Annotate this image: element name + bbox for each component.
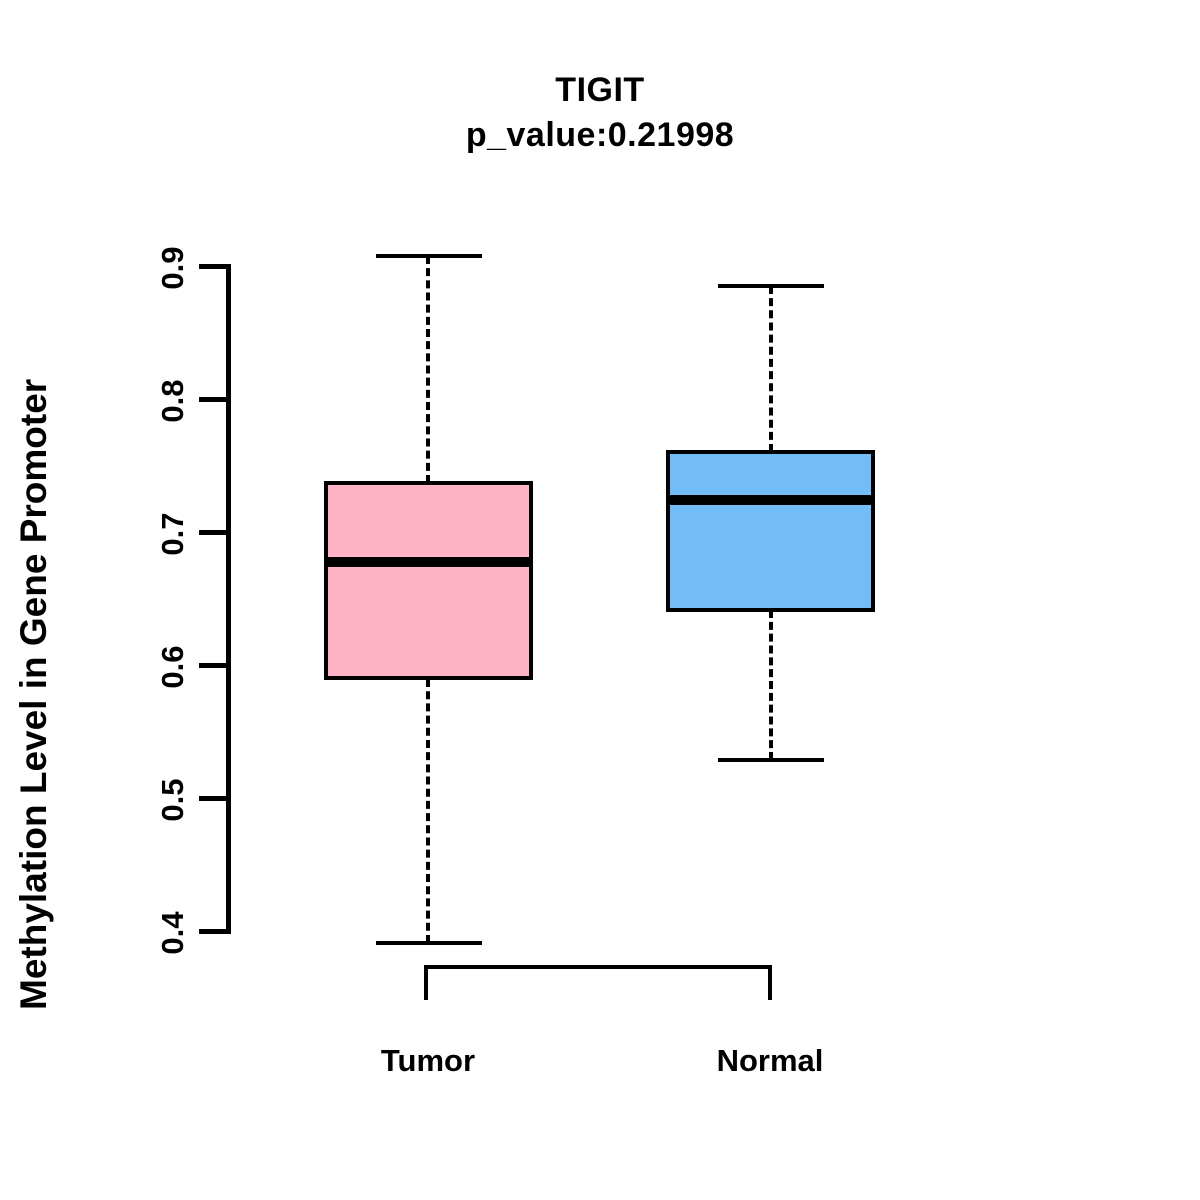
boxplot-figure: TIGIT p_value:0.21998 Methylation Level …: [0, 0, 1200, 1200]
y-tick-label-0.5: 0.5: [155, 745, 191, 855]
tumor-box: [324, 481, 533, 680]
y-tick-label-0.9: 0.9: [155, 213, 191, 323]
y-tick-label-0.8: 0.8: [155, 346, 191, 456]
x-axis-stub-left: [424, 965, 428, 1000]
y-tick-0.9: [199, 264, 231, 269]
tumor-lower-whisker-cap: [376, 941, 482, 945]
tumor-upper-whisker: [426, 256, 430, 483]
y-tick-0.6: [199, 663, 231, 668]
tumor-upper-whisker-cap: [376, 254, 482, 258]
y-tick-label-0.7: 0.7: [155, 479, 191, 589]
tumor-median-line: [324, 557, 533, 567]
x-tick-label-normal: Normal: [670, 1043, 870, 1079]
x-axis-stub-right: [768, 965, 772, 1000]
y-tick-label-0.6: 0.6: [155, 612, 191, 722]
normal-lower-whisker-cap: [718, 758, 824, 762]
y-axis-spine: [226, 264, 231, 934]
y-tick-label-0.4: 0.4: [155, 878, 191, 988]
y-tick-0.7: [199, 530, 231, 535]
y-tick-0.5: [199, 796, 231, 801]
page-title: TIGIT: [0, 68, 1200, 112]
x-axis-line: [424, 965, 772, 969]
y-tick-0.4: [199, 929, 231, 934]
y-tick-0.8: [199, 397, 231, 402]
p-value-subtitle: p_value:0.21998: [0, 112, 1200, 158]
tumor-lower-whisker: [426, 679, 430, 943]
normal-median-line: [666, 495, 875, 505]
y-axis-title: Methylation Level in Gene Promoter: [2, 0, 66, 1010]
normal-lower-whisker: [769, 610, 773, 760]
x-tick-label-tumor: Tumor: [328, 1043, 528, 1079]
normal-upper-whisker-cap: [718, 284, 824, 288]
title-block: TIGIT p_value:0.21998: [0, 68, 1200, 158]
normal-box: [666, 450, 875, 612]
normal-upper-whisker: [769, 286, 773, 452]
